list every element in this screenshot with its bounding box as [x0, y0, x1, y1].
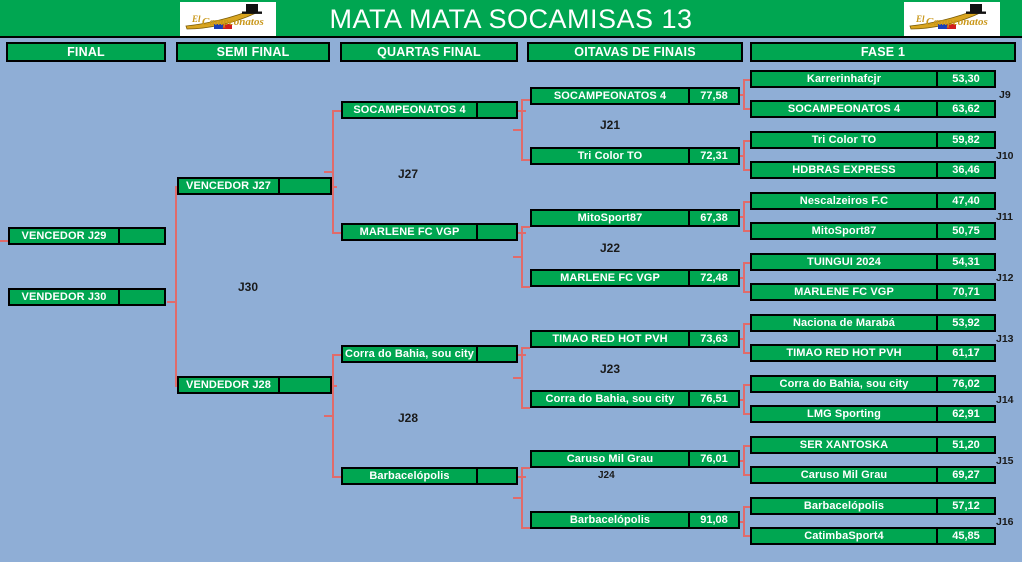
- fase1-team-box[interactable]: Karrerinhafcjr 53,30: [750, 70, 996, 88]
- team-score: 77,58: [688, 89, 738, 103]
- fase1-team-box[interactable]: Barbacelópolis 57,12: [750, 497, 996, 515]
- team-score: 51,20: [936, 438, 994, 452]
- team-name: VENCEDOR J29: [10, 229, 118, 243]
- column-header-semifinal: SEMI FINAL: [176, 42, 330, 62]
- connector-j23-top: [521, 347, 530, 349]
- team-name: Corra do Bahia, sou city: [532, 392, 688, 406]
- semifinal-team-box[interactable]: VENCEDOR J27: [177, 177, 332, 195]
- match-id-label: J9: [999, 89, 1011, 101]
- connector-j30-out: [167, 301, 176, 303]
- connector-j27-out: [324, 171, 333, 173]
- team-name: Tri Color TO: [532, 149, 688, 163]
- team-name: VENDEDOR J28: [179, 378, 278, 392]
- team-name: Tri Color TO: [752, 133, 936, 147]
- team-score: [476, 103, 516, 117]
- match-id-label: J30: [238, 280, 258, 294]
- connector-j28-bottom: [332, 476, 341, 478]
- team-score: 73,63: [688, 332, 738, 346]
- team-score: 72,31: [688, 149, 738, 163]
- connector-quartas-in: [518, 232, 526, 234]
- match-id-label: J22: [600, 241, 620, 255]
- connector-quartas-in: [518, 476, 526, 478]
- fase1-team-box[interactable]: Naciona de Marabá 53,92: [750, 314, 996, 332]
- match-id-label: J14: [996, 394, 1014, 406]
- team-score: [476, 347, 516, 361]
- team-name: VENDEDOR J30: [10, 290, 118, 304]
- team-score: [278, 378, 330, 392]
- match-id-label: J15: [996, 455, 1014, 467]
- team-score: 62,91: [936, 407, 994, 421]
- fase1-team-box[interactable]: MARLENE FC VGP 70,71: [750, 283, 996, 301]
- connector-j22-bottom: [521, 286, 530, 288]
- team-name: SOCAMPEONATOS 4: [532, 89, 688, 103]
- column-header-fase1: FASE 1: [750, 42, 1016, 62]
- team-name: Naciona de Marabá: [752, 316, 936, 330]
- team-name: MARLENE FC VGP: [532, 271, 688, 285]
- team-score: 76,02: [936, 377, 994, 391]
- quartas-team-box[interactable]: SOCAMPEONATOS 4: [341, 101, 518, 119]
- column-header-quartas: QUARTAS FINAL: [340, 42, 518, 62]
- campeonatos-logo-icon-right: El Campeonatos: [904, 2, 1000, 36]
- team-score: 45,85: [936, 529, 994, 543]
- team-score: 76,01: [688, 452, 738, 466]
- connector-quartas-in: [518, 110, 526, 112]
- team-name: Barbacelópolis: [532, 513, 688, 527]
- column-header-final: FINAL: [6, 42, 166, 62]
- match-id-label: J23: [600, 362, 620, 376]
- connector-j27-bottom: [332, 232, 341, 234]
- team-name: TIMAO RED HOT PVH: [752, 346, 936, 360]
- connector-j27-top: [332, 110, 341, 112]
- team-name: VENCEDOR J27: [179, 179, 278, 193]
- team-score: 63,62: [936, 102, 994, 116]
- team-score: 54,31: [936, 255, 994, 269]
- campeonatos-logo-icon-left: El Campeonatos: [180, 2, 276, 36]
- team-score: 76,51: [688, 392, 738, 406]
- oitavas-team-box[interactable]: TIMAO RED HOT PVH 73,63: [530, 330, 740, 348]
- match-id-label: J28: [398, 411, 418, 425]
- team-score: 69,27: [936, 468, 994, 482]
- team-score: [278, 179, 330, 193]
- team-name: TIMAO RED HOT PVH: [532, 332, 688, 346]
- team-name: MARLENE FC VGP: [752, 285, 936, 299]
- fase1-team-box[interactable]: Tri Color TO 59,82: [750, 131, 996, 149]
- team-score: 70,71: [936, 285, 994, 299]
- team-name: HDBRAS EXPRESS: [752, 163, 936, 177]
- team-name: MitoSport87: [532, 211, 688, 225]
- final-team-box[interactable]: VENCEDOR J29: [8, 227, 166, 245]
- fase1-team-box[interactable]: TUINGUI 2024 54,31: [750, 253, 996, 271]
- match-id-label: J24: [598, 470, 615, 481]
- connector-j28-top: [332, 354, 341, 356]
- team-score: [476, 469, 516, 483]
- svg-text:Campeonatos: Campeonatos: [926, 16, 988, 28]
- svg-text:El: El: [191, 14, 201, 24]
- team-name: MARLENE FC VGP: [343, 225, 476, 239]
- match-id-label: J13: [996, 333, 1014, 345]
- connector-j22-out: [513, 256, 522, 258]
- team-name: TUINGUI 2024: [752, 255, 936, 269]
- connector-j24-top: [521, 467, 530, 469]
- team-name: Barbacelópolis: [343, 469, 476, 483]
- title-bar: MATA MATA SOCAMISAS 13 El Campeonatos: [0, 0, 1022, 38]
- oitavas-team-box[interactable]: SOCAMPEONATOS 4 77,58: [530, 87, 740, 105]
- page-title: MATA MATA SOCAMISAS 13: [0, 0, 1022, 38]
- team-score: [476, 225, 516, 239]
- fase1-team-box[interactable]: HDBRAS EXPRESS 36,46: [750, 161, 996, 179]
- fase1-team-box[interactable]: SER XANTOSKA 51,20: [750, 436, 996, 454]
- match-id-label: J27: [398, 167, 418, 181]
- team-score: 47,40: [936, 194, 994, 208]
- svg-text:El: El: [915, 14, 925, 24]
- team-name: Nescalzeiros F.C: [752, 194, 936, 208]
- match-id-label: J12: [996, 272, 1014, 284]
- match-id-label: J10: [996, 150, 1014, 162]
- column-header-oitavas: OITAVAS DE FINAIS: [527, 42, 743, 62]
- connector-j28-out: [324, 415, 333, 417]
- oitavas-team-box[interactable]: Tri Color TO 72,31: [530, 147, 740, 165]
- team-name: Caruso Mil Grau: [752, 468, 936, 482]
- fase1-team-box[interactable]: Nescalzeiros F.C 47,40: [750, 192, 996, 210]
- team-score: 61,17: [936, 346, 994, 360]
- connector-j24-bottom: [521, 527, 530, 529]
- team-score: 50,75: [936, 224, 994, 238]
- fase1-team-box[interactable]: SOCAMPEONATOS 4 63,62: [750, 100, 996, 118]
- team-name: Corra do Bahia, sou city: [343, 347, 476, 361]
- connector-j21-out: [513, 129, 522, 131]
- team-name: Caruso Mil Grau: [532, 452, 688, 466]
- final-team-box[interactable]: VENDEDOR J30: [8, 288, 166, 306]
- team-score: 53,30: [936, 72, 994, 86]
- quartas-team-box[interactable]: Corra do Bahia, sou city: [341, 345, 518, 363]
- fase1-team-box[interactable]: TIMAO RED HOT PVH 61,17: [750, 344, 996, 362]
- connector-j21-bottom: [521, 159, 530, 161]
- oitavas-team-box[interactable]: MitoSport87 67,38: [530, 209, 740, 227]
- team-score: 91,08: [688, 513, 738, 527]
- team-score: [118, 229, 164, 243]
- match-id-label: J16: [996, 516, 1014, 528]
- match-id-label: J21: [600, 118, 620, 132]
- team-score: 67,38: [688, 211, 738, 225]
- team-name: SOCAMPEONATOS 4: [343, 103, 476, 117]
- connector-j23-bottom: [521, 407, 530, 409]
- connector-j22-top: [521, 226, 530, 228]
- connector-j30: [175, 186, 177, 386]
- quartas-team-box[interactable]: Barbacelópolis: [341, 467, 518, 485]
- oitavas-team-box[interactable]: Caruso Mil Grau 76,01: [530, 450, 740, 468]
- team-score: 59,82: [936, 133, 994, 147]
- team-name: SOCAMPEONATOS 4: [752, 102, 936, 116]
- bracket-page: MATA MATA SOCAMISAS 13 El Campeonatos: [0, 0, 1022, 562]
- team-score: [118, 290, 164, 304]
- team-name: Corra do Bahia, sou city: [752, 377, 936, 391]
- team-score: 72,48: [688, 271, 738, 285]
- fase1-team-box[interactable]: Corra do Bahia, sou city 76,02: [750, 375, 996, 393]
- semifinal-team-box[interactable]: VENDEDOR J28: [177, 376, 332, 394]
- team-name: Barbacelópolis: [752, 499, 936, 513]
- fase1-team-box[interactable]: LMG Sporting 62,91: [750, 405, 996, 423]
- oitavas-team-box[interactable]: Corra do Bahia, sou city 76,51: [530, 390, 740, 408]
- fase1-team-box[interactable]: MitoSport87 50,75: [750, 222, 996, 240]
- team-name: Karrerinhafcjr: [752, 72, 936, 86]
- connector-quartas-in: [518, 354, 526, 356]
- connector-j23-out: [513, 377, 522, 379]
- team-score: 57,12: [936, 499, 994, 513]
- svg-text:Campeonatos: Campeonatos: [202, 16, 264, 28]
- team-name: CatimbaSport4: [752, 529, 936, 543]
- fase1-team-box[interactable]: Caruso Mil Grau 69,27: [750, 466, 996, 484]
- team-name: MitoSport87: [752, 224, 936, 238]
- oitavas-team-box[interactable]: MARLENE FC VGP 72,48: [530, 269, 740, 287]
- team-score: 36,46: [936, 163, 994, 177]
- team-name: LMG Sporting: [752, 407, 936, 421]
- connector-j24-out: [513, 497, 522, 499]
- match-id-label: J11: [996, 211, 1013, 223]
- connector-j21-top: [521, 99, 530, 101]
- team-name: SER XANTOSKA: [752, 438, 936, 452]
- oitavas-team-box[interactable]: Barbacelópolis 91,08: [530, 511, 740, 529]
- quartas-team-box[interactable]: MARLENE FC VGP: [341, 223, 518, 241]
- team-score: 53,92: [936, 316, 994, 330]
- fase1-team-box[interactable]: CatimbaSport4 45,85: [750, 527, 996, 545]
